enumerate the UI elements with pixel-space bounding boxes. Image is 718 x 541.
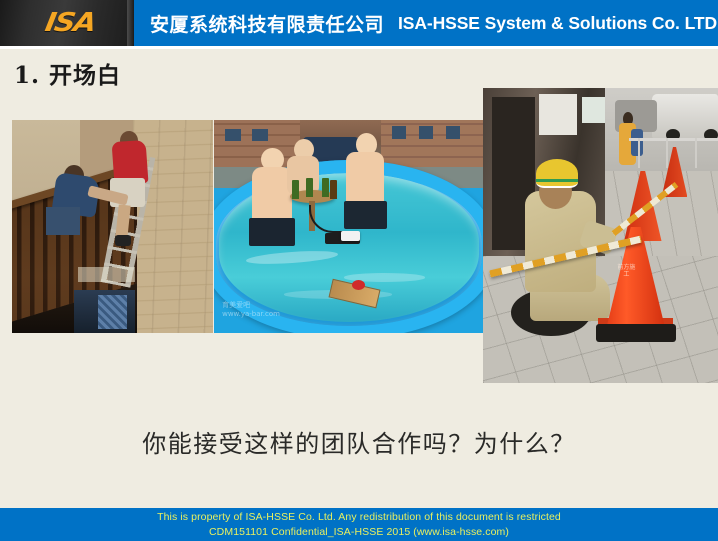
photo3-hard-hat-icon: [536, 159, 578, 189]
page-footer: This is property of ISA-HSSE Co. Ltd. An…: [0, 508, 718, 541]
page-title: 1. 开场白: [14, 56, 121, 90]
photo3-guardrail-post: [638, 138, 640, 168]
photo3-cone-label: 前方施工: [617, 265, 636, 278]
photo2-watermark: 育美爱吧 www.ya-bar.com: [222, 301, 303, 324]
photo1-door-glass: [98, 295, 126, 329]
photo2-window: [252, 129, 268, 142]
photo2-bottle: [322, 178, 329, 197]
photo3-poster: [539, 94, 577, 135]
stairwell-ladder-photo: [12, 120, 213, 333]
photo3-poster: [582, 97, 606, 124]
slide-caption: 你能接受这样的团队合作吗？为什么？: [0, 424, 718, 459]
footer-document-id-line: CDM151101 Confidential_ISA-HSSE 2015 (ww…: [209, 526, 509, 538]
photo2-window: [392, 126, 406, 139]
photo1-worker-lower-pants: [46, 207, 80, 235]
photo2-window: [225, 129, 241, 142]
photo3-guardrail-post: [666, 138, 668, 168]
isa-logo-icon: ISA: [43, 8, 98, 38]
photo2-bottle: [330, 180, 337, 199]
photo3-guardrail-post: [695, 138, 697, 168]
photo3-cone-base: [596, 324, 676, 342]
photo2-power-strip: [341, 231, 360, 242]
manhole-worker-photo: 前方施工: [483, 88, 718, 383]
inflatable-pool-photo: 育美爱吧 www.ya-bar.com: [214, 120, 484, 333]
photo2-bottle: [292, 180, 299, 199]
header-title-block: 安厦系统科技有限责任公司 ISA-HSSE System & Solutions…: [134, 0, 718, 46]
photo2-watermark-line1: 育美爱吧: [222, 301, 303, 310]
photo2-watermark-line2: www.ya-bar.com: [222, 310, 303, 319]
footer-copyright-line: This is property of ISA-HSSE Co. Ltd. An…: [157, 511, 561, 523]
photo2-window: [446, 126, 460, 139]
logo-block: ISA: [0, 0, 134, 46]
photo2-person-right-shorts: [344, 201, 387, 229]
company-name-chinese: 安厦系统科技有限责任公司: [150, 10, 384, 37]
photo2-person-left-shorts: [249, 218, 295, 246]
photo3-road-lines: [605, 171, 718, 265]
photo2-person-right-torso: [346, 152, 384, 205]
photo3-hard-hat-band: [536, 179, 578, 182]
photo2-window: [419, 126, 433, 139]
header-divider: [0, 46, 718, 49]
page-header: ISA 安厦系统科技有限责任公司 ISA-HSSE System & Solut…: [0, 0, 718, 46]
photo2-bottle: [306, 178, 313, 197]
company-name-english: ISA-HSSE System & Solutions Co. LTD: [398, 13, 717, 34]
photo1-worker-upper-shoe: [115, 235, 131, 246]
photo1-wall-sign: [78, 267, 134, 282]
